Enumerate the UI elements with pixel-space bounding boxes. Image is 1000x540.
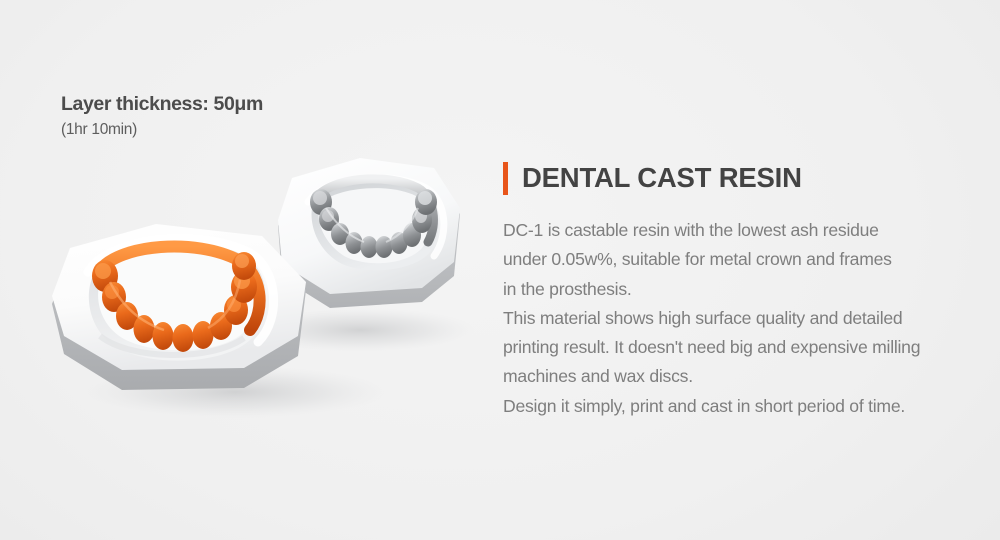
- accent-bar: [503, 162, 508, 195]
- description-line: in the prosthesis.: [503, 275, 973, 304]
- description-line: printing result. It doesn't need big and…: [503, 333, 973, 362]
- description-line: machines and wax discs.: [503, 362, 973, 391]
- description-line: DC-1 is castable resin with the lowest a…: [503, 216, 973, 245]
- description-line: Design it simply, print and cast in shor…: [503, 392, 973, 421]
- slide-root: Layer thickness: 50μm (1hr 10min): [0, 0, 1000, 540]
- dental-models-image: [30, 140, 500, 420]
- layer-thickness-caption: Layer thickness: 50μm (1hr 10min): [61, 94, 391, 138]
- page-title: DENTAL CAST RESIN: [522, 164, 802, 192]
- description-line: under 0.05w%, suitable for metal crown a…: [503, 245, 973, 274]
- product-info-block: DENTAL CAST RESIN DC-1 is castable resin…: [503, 158, 973, 421]
- front-model-group: [52, 224, 306, 390]
- print-duration-label: (1hr 10min): [61, 121, 391, 138]
- description-line: This material shows high surface quality…: [503, 304, 973, 333]
- product-description: DC-1 is castable resin with the lowest a…: [503, 216, 973, 421]
- layer-thickness-label: Layer thickness: 50μm: [61, 94, 391, 115]
- product-title-row: DENTAL CAST RESIN: [503, 158, 973, 198]
